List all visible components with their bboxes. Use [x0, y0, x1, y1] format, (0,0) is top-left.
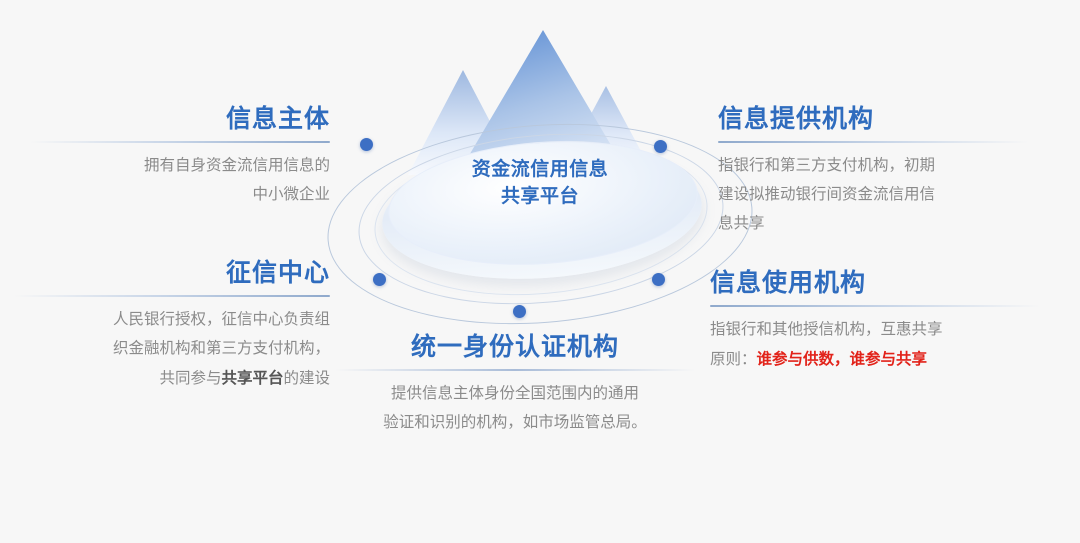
block-credit-center-body-line3: 共同参与共享平台的建设 — [14, 363, 330, 393]
block-provider-body-line3: 息共享 — [718, 209, 1028, 238]
block-user-body-line2: 原则：谁参与供数，谁参与共享 — [710, 344, 1040, 374]
user-line2-pre: 原则： — [710, 350, 757, 368]
orbit-node-bottom-right — [652, 273, 665, 286]
credit-center-line3-pre: 共同参与 — [159, 369, 221, 387]
block-user-title: 信息使用机构 — [710, 268, 1040, 298]
credit-center-line3-post: 的建设 — [283, 369, 330, 387]
block-provider-body-line2: 建设拟推动银行间资金流信用信 — [718, 180, 1028, 209]
block-subject-body-line1: 拥有自身资金流信用信息的 — [30, 151, 330, 180]
platform-label-line1: 资金流信用信息 — [390, 156, 690, 183]
block-credit-reference-center: 征信中心 人民银行授权，征信中心负责组 织金融机构和第三方支付机构， 共同参与共… — [14, 258, 330, 393]
block-credit-center-body-line1: 人民银行授权，征信中心负责组 — [14, 305, 330, 334]
block-subject-body-line2: 中小微企业 — [30, 180, 330, 209]
platform-label: 资金流信用信息 共享平台 — [390, 156, 690, 210]
user-line2-accent: 谁参与供数，谁参与共享 — [757, 349, 928, 368]
block-credit-center-body-line2: 织金融机构和第三方支付机构， — [14, 334, 330, 363]
block-provider-rule — [718, 141, 1028, 143]
orbit-node-top-left — [360, 138, 373, 151]
orbit-node-top-right — [654, 140, 667, 153]
block-unified-identity-authority: 统一身份认证机构 提供信息主体身份全国范围内的通用 验证和识别的机构，如市场监管… — [335, 332, 695, 437]
platform-label-line2: 共享平台 — [390, 183, 690, 210]
block-identity-body-line2: 验证和识别的机构，如市场监管总局。 — [335, 408, 695, 437]
block-identity-body-line1: 提供信息主体身份全国范围内的通用 — [335, 379, 695, 408]
block-provider-body: 指银行和第三方支付机构，初期 建设拟推动银行间资金流信用信 息共享 — [718, 151, 1028, 238]
block-identity-body: 提供信息主体身份全国范围内的通用 验证和识别的机构，如市场监管总局。 — [335, 379, 695, 437]
block-provider-title: 信息提供机构 — [718, 104, 1028, 134]
block-credit-center-rule — [14, 295, 330, 297]
block-subject-body: 拥有自身资金流信用信息的 中小微企业 — [30, 151, 330, 209]
orbit-node-bottom-left — [373, 273, 386, 286]
block-user-body: 指银行和其他授信机构，互惠共享 原则：谁参与供数，谁参与共享 — [710, 315, 1040, 374]
block-information-provider: 信息提供机构 指银行和第三方支付机构，初期 建设拟推动银行间资金流信用信 息共享 — [718, 104, 1028, 238]
block-credit-center-title: 征信中心 — [14, 258, 330, 288]
credit-center-line3-strong: 共享平台 — [221, 368, 283, 387]
block-credit-center-body: 人民银行授权，征信中心负责组 织金融机构和第三方支付机构， 共同参与共享平台的建… — [14, 305, 330, 393]
center-graphic: 资金流信用信息 共享平台 — [330, 30, 750, 350]
block-provider-body-line1: 指银行和第三方支付机构，初期 — [718, 151, 1028, 180]
block-information-user: 信息使用机构 指银行和其他授信机构，互惠共享 原则：谁参与供数，谁参与共享 — [710, 268, 1040, 374]
block-subject-title: 信息主体 — [30, 104, 330, 134]
block-identity-rule — [335, 369, 695, 371]
orbit-node-bottom-center — [513, 305, 526, 318]
block-user-body-line1: 指银行和其他授信机构，互惠共享 — [710, 315, 1040, 344]
block-user-rule — [710, 305, 1040, 307]
block-identity-title: 统一身份认证机构 — [335, 332, 695, 362]
block-subject-rule — [30, 141, 330, 143]
infographic-canvas: 资金流信用信息 共享平台 信息主体 拥有自身资金流信用信息的 中小微企业 征信中… — [0, 0, 1080, 543]
block-information-subject: 信息主体 拥有自身资金流信用信息的 中小微企业 — [30, 104, 330, 209]
